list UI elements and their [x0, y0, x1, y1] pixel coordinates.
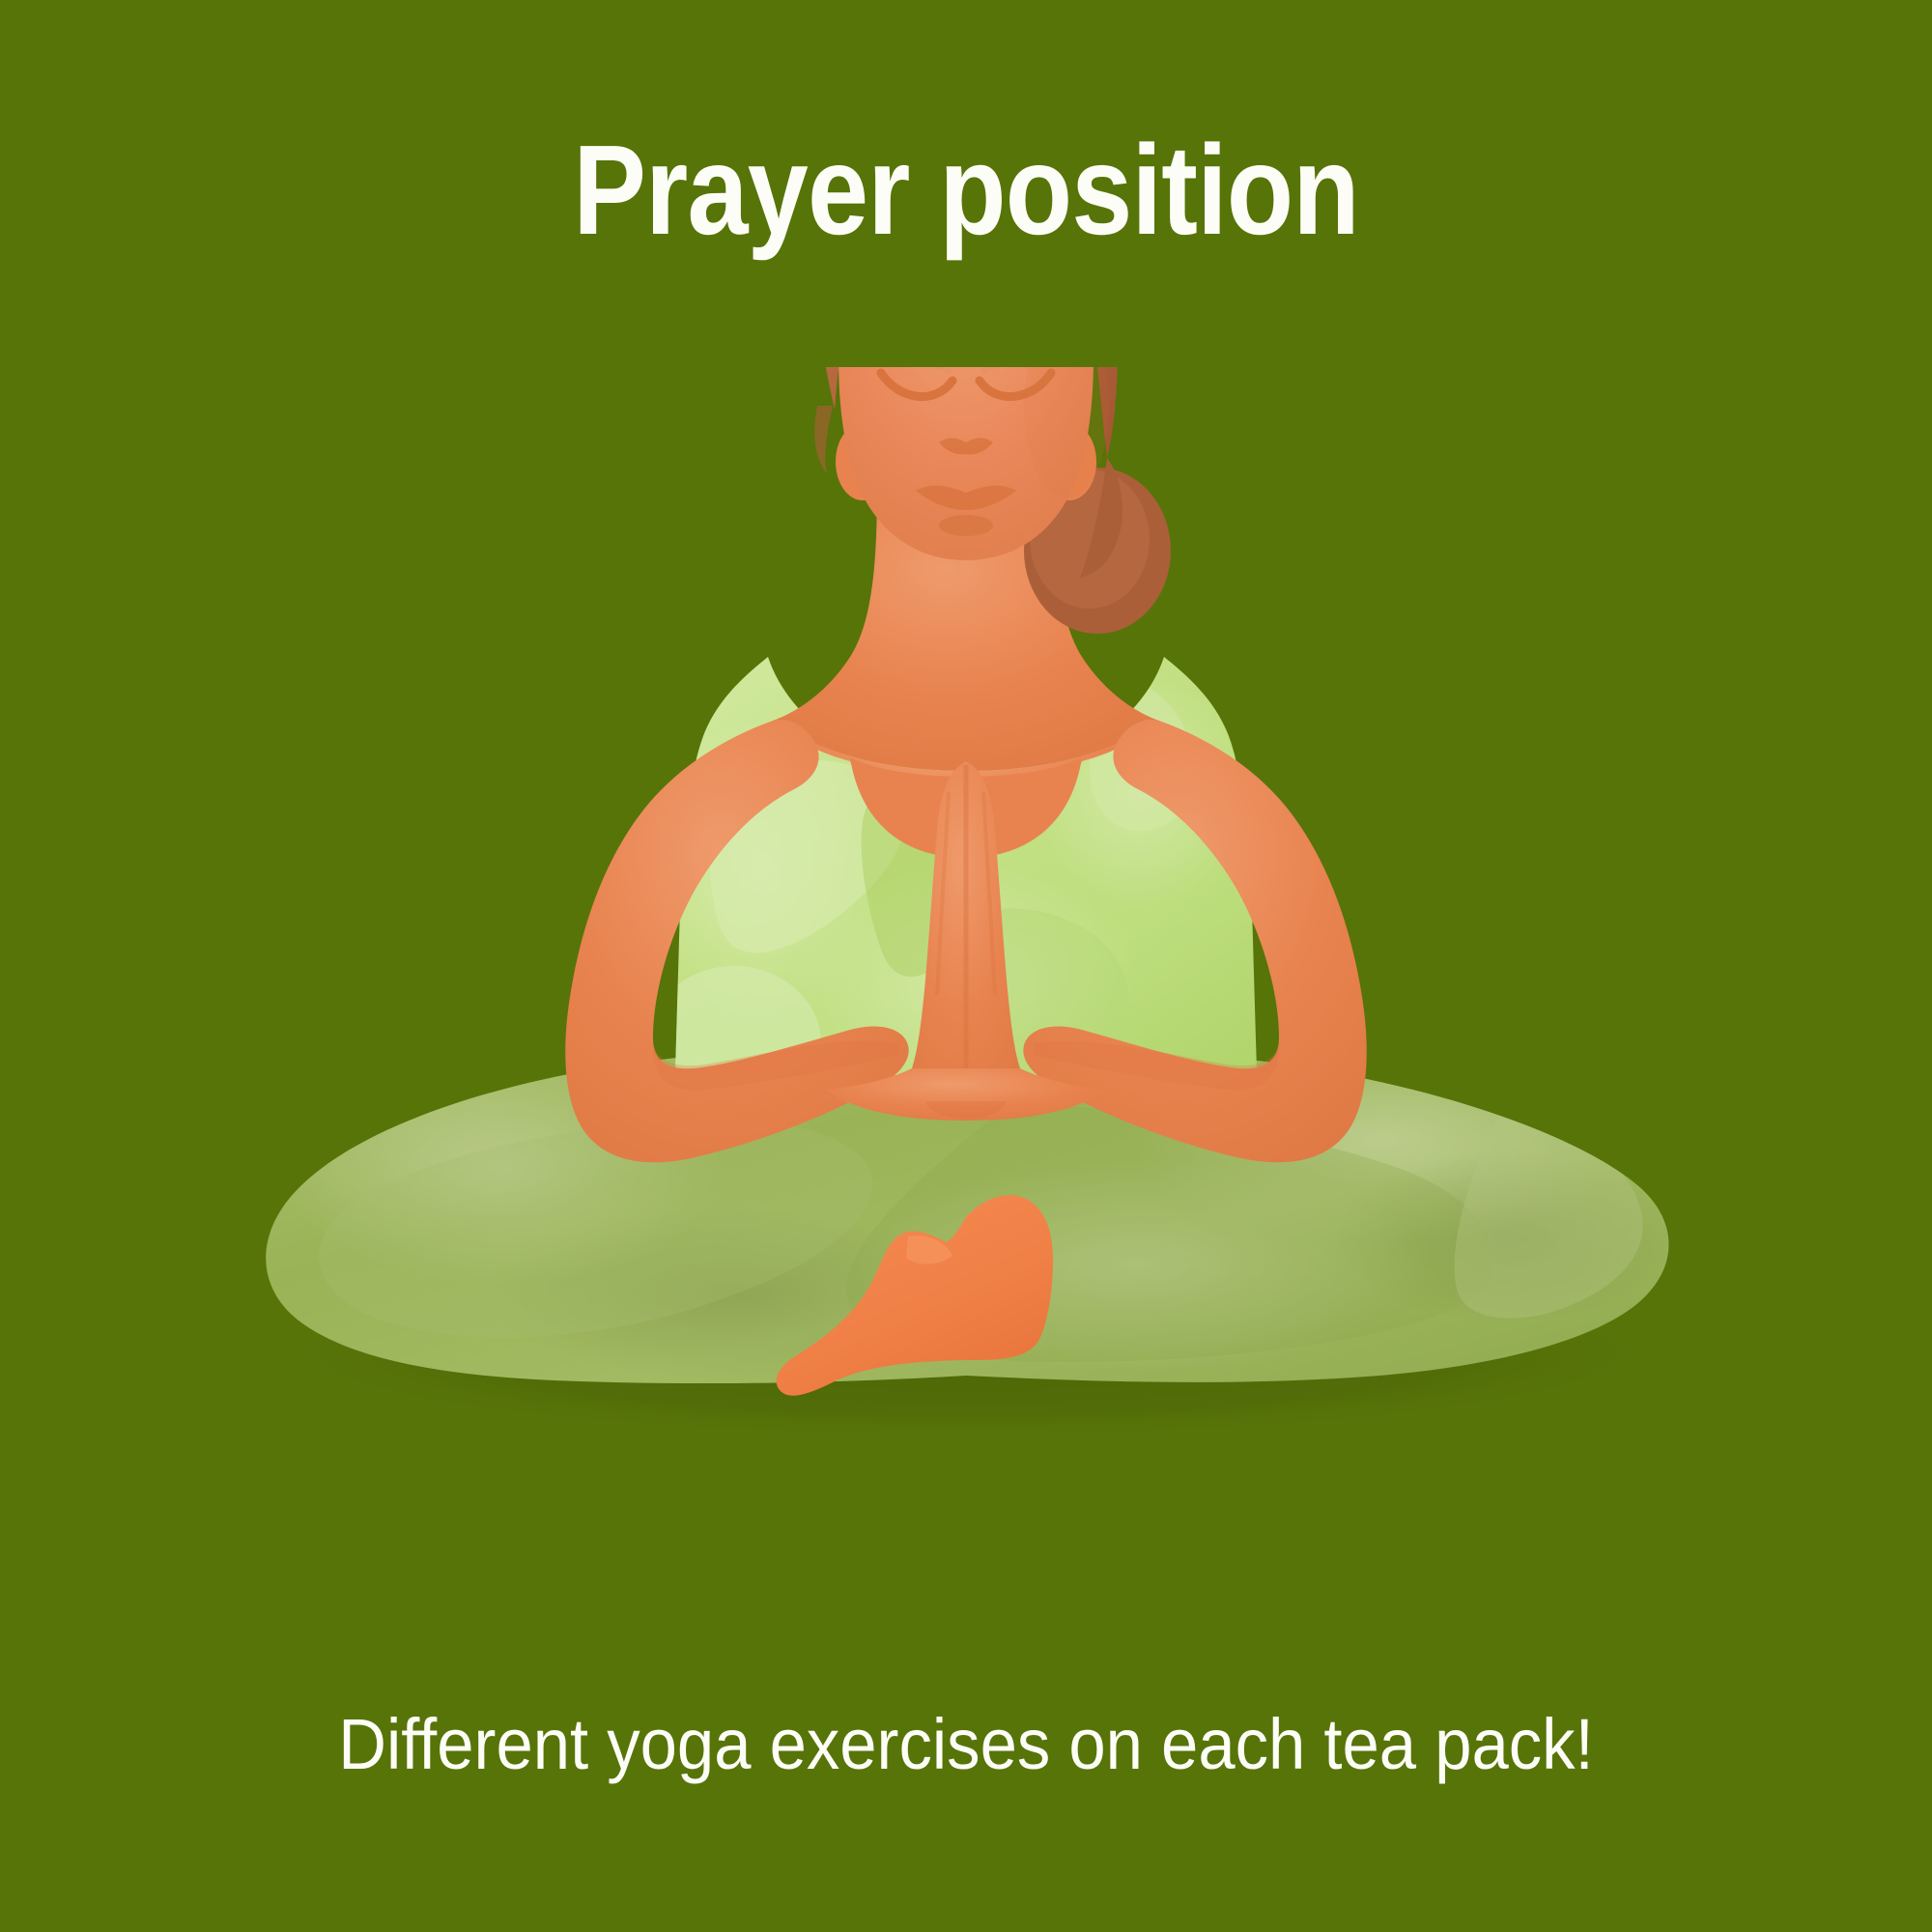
yoga-pose-illustration	[0, 367, 1932, 1575]
lower-lip	[939, 515, 993, 536]
page-title: Prayer position	[135, 124, 1797, 258]
poster-canvas: Prayer position	[0, 0, 1932, 1932]
illustration-svg	[0, 367, 1932, 1575]
page-caption: Different yoga exercises on each tea pac…	[68, 1703, 1864, 1785]
